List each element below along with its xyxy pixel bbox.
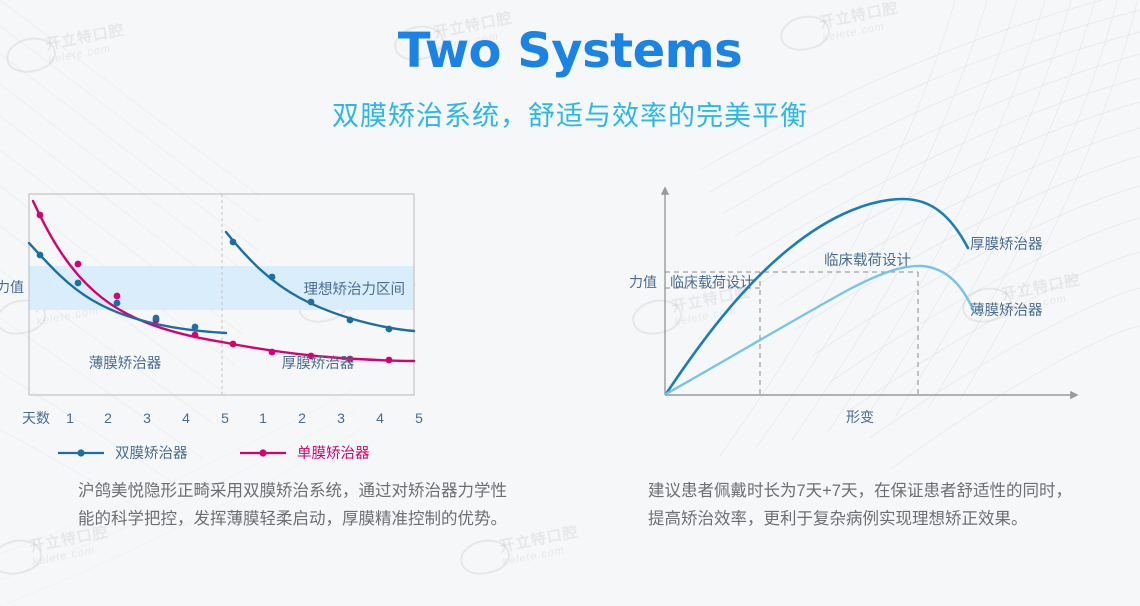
phase-label-thin-film: 薄膜矫治器 <box>89 355 162 372</box>
series-label-thick-film: 厚膜矫治器 <box>970 236 1043 253</box>
watermark-en-text: kelete.com <box>502 541 583 568</box>
x-tick-label: 5 <box>221 410 229 426</box>
x-tick-label: 2 <box>298 410 306 426</box>
legend-marker-dual-film <box>77 449 84 456</box>
watermark-logo: 开立特口腔 kelete.com <box>498 521 583 569</box>
load-deformation-chart: 力值 临床载荷设计 临床载荷设计 厚膜矫治器 薄膜矫治器 形变 <box>570 170 1140 470</box>
legend-marker-single-film <box>259 449 266 456</box>
load-deformation-chart-panel: 力值 临床载荷设计 临床载荷设计 厚膜矫治器 薄膜矫治器 形变 <box>570 170 1140 470</box>
x-tick-label: 1 <box>259 410 267 426</box>
x-tick-label: 5 <box>415 410 423 426</box>
series-label-thin-film: 薄膜矫治器 <box>970 302 1043 319</box>
page-header: Two Systems 双膜矫治系统，舒适与效率的完美平衡 <box>0 0 1140 133</box>
x-tick-label: 3 <box>337 410 345 426</box>
force-decay-chart: 力值 理想矫治力区间 薄膜矫治器 厚膜矫治器 天数 1 2 3 4 5 1 2 … <box>0 170 570 470</box>
x-tick-label: 2 <box>104 410 112 426</box>
x-tick-label: 4 <box>182 410 190 426</box>
phase-label-thick-film: 厚膜矫治器 <box>282 355 355 372</box>
legend-item-single-film[interactable]: 单膜矫治器 <box>240 445 370 462</box>
clinical-load-upper-annotation: 临床载荷设计 <box>824 252 911 269</box>
legend-item-dual-film[interactable]: 双膜矫治器 <box>58 445 188 462</box>
left-caption-text: 沪鸽美悦隐形正畸采用双膜矫治系统，通过对矫治器力学性能的科学把控，发挥薄膜轻柔启… <box>78 478 508 533</box>
page-subtitle: 双膜矫治系统，舒适与效率的完美平衡 <box>0 94 1140 133</box>
right-caption-text: 建议患者佩戴时长为7天+7天，在保证患者舒适性的同时，提高矫治效率，更利于复杂病… <box>648 478 1078 533</box>
x-axis-label-right-chart: 形变 <box>846 409 874 425</box>
left-chart-x-axis-label: 天数 <box>22 410 50 426</box>
page-title: Two Systems <box>0 26 1140 76</box>
force-decay-chart-panel: 力值 理想矫治力区间 薄膜矫治器 厚膜矫治器 天数 1 2 3 4 5 1 2 … <box>0 170 570 470</box>
watermark-cn-text: 开立特口腔 <box>498 521 581 557</box>
left-chart-x-tick-labels: 1 2 3 4 5 1 2 3 4 5 <box>66 410 423 426</box>
clinical-load-inner-annotation: 临床载荷设计 <box>670 274 754 290</box>
ideal-force-band-label: 理想矫治力区间 <box>304 281 406 298</box>
x-tick-label: 4 <box>376 410 384 426</box>
thick-film-curve <box>666 199 968 394</box>
watermark-en-text: kelete.com <box>32 541 113 568</box>
x-tick-label: 3 <box>143 410 151 426</box>
x-tick-label: 1 <box>66 410 74 426</box>
watermark-ring <box>0 536 45 579</box>
legend-label-dual-film: 双膜矫治器 <box>115 445 188 462</box>
y-axis-label-right-chart: 力值 <box>629 274 657 290</box>
watermark-ring <box>457 536 513 579</box>
left-chart-y-axis-label: 力值 <box>0 279 24 295</box>
legend-label-single-film: 单膜矫治器 <box>297 445 370 462</box>
